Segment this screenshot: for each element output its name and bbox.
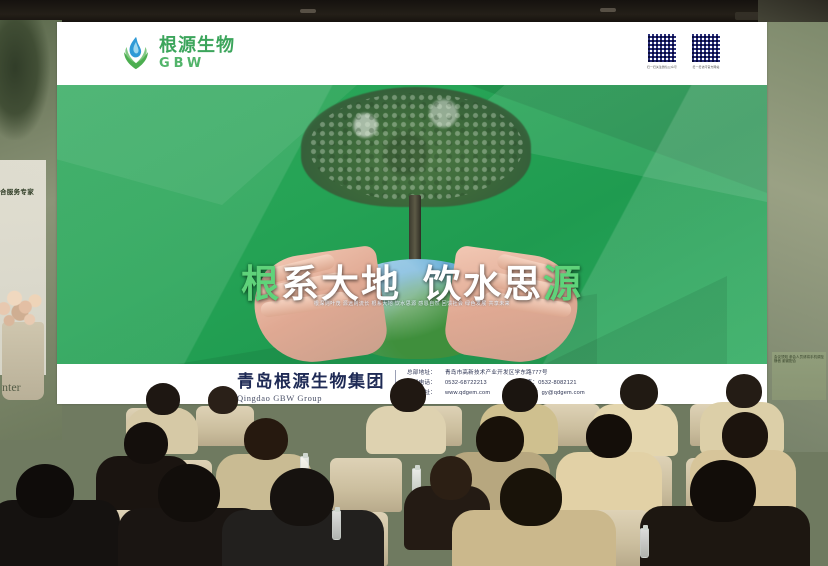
qr-code-item: 扫一扫关注微信公众号 [647,33,677,69]
tree-foliage-texture [309,93,523,201]
attendee-head [500,468,562,526]
attendee-head [430,456,472,500]
projection-screen: 根源生物 GBW 扫一扫关注微信公众号 扫一扫访问官方网站 [57,22,767,404]
logo-company-en: GBW [159,57,235,70]
qr-code-item: 扫一扫访问官方网站 [691,33,721,69]
ceiling-light [600,8,616,12]
qr-code-caption: 扫一扫访问官方网站 [693,65,720,69]
qr-code-icon [691,33,721,63]
attendee-head [476,416,524,462]
gbw-leaf-flame-logo-icon [119,35,153,71]
attendee-head [390,378,426,412]
slide-hero: 根系大地饮水思源 根深则叶茂 源远则流长 根系大地 饮水思源 感恩自然 回馈社会… [57,85,767,364]
attendee-torso [366,406,446,454]
ceiling-light [300,9,316,13]
conference-photo-scene: 合服务专家 nter 会议须知 参会人员请将手机调至静音 谢谢配合 [0,0,828,566]
attendee-head [502,378,538,412]
attendee-head [244,418,288,460]
left-banner-text: 合服务专家 [0,186,44,196]
slide-subtitle: 根深则叶茂 源远则流长 根系大地 饮水思源 感恩自然 回馈社会 绿色发展 共享未… [57,300,767,307]
attendee-head [16,464,74,518]
flower-arrangement [0,280,48,332]
qr-code-icon [647,33,677,63]
slide-header: 根源生物 GBW 扫一扫关注微信公众号 扫一扫访问官方网站 [57,22,767,85]
chair [330,458,402,512]
attendee-head [722,412,768,458]
attendee-head [124,422,168,464]
hands-globe-tree-illustration [263,85,569,364]
qr-code-group: 扫一扫关注微信公众号 扫一扫访问官方网站 [647,33,721,69]
company-logo: 根源生物 GBW [119,35,235,71]
attendee-head [690,460,756,522]
attendee-head [208,386,238,414]
attendee-head [726,374,762,408]
attendee-head [586,414,632,458]
qr-code-caption: 扫一扫关注微信公众号 [647,65,677,69]
attendee-head [620,374,658,410]
logo-company-cn: 根源生物 [159,37,235,55]
left-foliage [0,20,50,140]
attendee-head [146,383,180,415]
audience-area [0,360,828,566]
attendee-head [270,468,334,526]
attendee-head [158,464,220,522]
water-bottle [640,528,649,558]
water-bottle [332,510,341,540]
